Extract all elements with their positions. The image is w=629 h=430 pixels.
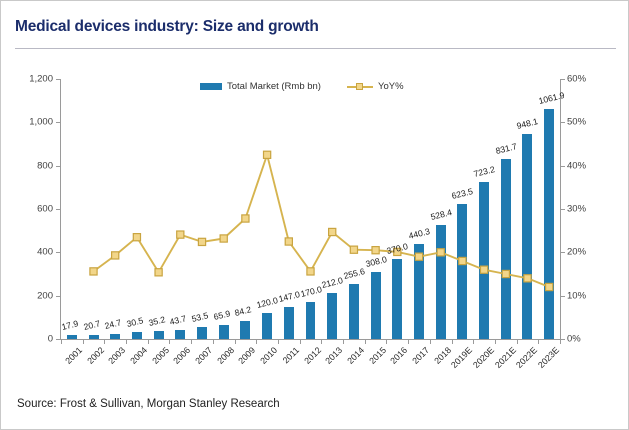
y-tick-mark-right (561, 122, 565, 123)
y-tick-mark-right (561, 296, 565, 297)
x-tick-mark (408, 340, 409, 344)
x-axis-line (60, 339, 561, 340)
x-tick-mark (473, 340, 474, 344)
title-divider (15, 48, 616, 49)
page-title: Medical devices industry: Size and growt… (15, 18, 319, 36)
yoy-marker-2021E[interactable] (502, 270, 509, 277)
x-tick-mark (560, 340, 561, 344)
x-tick-mark (452, 340, 453, 344)
x-tick-mark (191, 340, 192, 344)
yoy-marker-2007[interactable] (198, 238, 205, 245)
y-tick-label-right: 20% (567, 247, 607, 258)
y-tick-label-right: 10% (567, 290, 607, 301)
chart-page: Medical devices industry: Size and growt… (0, 0, 629, 430)
y-tick-label-right: 0% (567, 334, 607, 345)
yoy-marker-2015[interactable] (372, 247, 379, 254)
x-tick-mark (430, 340, 431, 344)
y-tick-label-left: 200 (15, 290, 53, 301)
yoy-marker-2018[interactable] (437, 249, 444, 256)
y-tick-mark-right (561, 79, 565, 80)
y-tick-label-right: 50% (567, 117, 607, 128)
y-tick-mark-left (56, 296, 60, 297)
x-tick-mark (278, 340, 279, 344)
y-tick-label-left: 0 (15, 334, 53, 345)
y-tick-mark-left (56, 252, 60, 253)
x-tick-mark (517, 340, 518, 344)
x-tick-mark (300, 340, 301, 344)
y-tick-mark-left (56, 209, 60, 210)
x-tick-mark (61, 340, 62, 344)
y-tick-label-left: 600 (15, 204, 53, 215)
y-tick-mark-left (56, 79, 60, 80)
y-tick-mark-right (561, 252, 565, 253)
y-tick-label-left: 800 (15, 160, 53, 171)
x-tick-mark (104, 340, 105, 344)
x-tick-mark (148, 340, 149, 344)
yoy-marker-2012[interactable] (307, 268, 314, 275)
yoy-marker-2022E[interactable] (524, 275, 531, 282)
y-tick-label-right: 60% (567, 74, 607, 85)
yoy-marker-2005[interactable] (155, 269, 162, 276)
y-tick-mark-left (56, 339, 60, 340)
y-tick-mark-right (561, 166, 565, 167)
x-tick-mark (256, 340, 257, 344)
y-tick-label-left: 400 (15, 247, 53, 258)
yoy-marker-2013[interactable] (329, 228, 336, 235)
y-tick-mark-right (561, 339, 565, 340)
yoy-marker-2002[interactable] (90, 268, 97, 275)
chart-area: 02004006008001,0001,200 0%10%20%30%40%50… (15, 59, 616, 384)
yoy-marker-2014[interactable] (350, 246, 357, 253)
x-tick-mark (213, 340, 214, 344)
y-tick-mark-left (56, 122, 60, 123)
x-tick-mark (538, 340, 539, 344)
yoy-line-series (61, 79, 560, 339)
y-tick-mark-left (56, 166, 60, 167)
y-tick-label-left: 1,200 (15, 74, 53, 85)
yoy-marker-2011[interactable] (285, 238, 292, 245)
y-tick-label-right: 40% (567, 160, 607, 171)
yoy-marker-2004[interactable] (133, 234, 140, 241)
x-tick-mark (126, 340, 127, 344)
source-note: Source: Frost & Sullivan, Morgan Stanley… (17, 398, 280, 410)
yoy-marker-2010[interactable] (264, 151, 271, 158)
y-tick-label-left: 1,000 (15, 117, 53, 128)
x-tick-mark (235, 340, 236, 344)
yoy-marker-2017[interactable] (415, 253, 422, 260)
x-tick-mark (343, 340, 344, 344)
yoy-marker-2003[interactable] (112, 252, 119, 259)
plot-area: 17.920.724.730.535.243.753.565.984.2120.… (61, 79, 560, 339)
x-tick-mark (83, 340, 84, 344)
x-tick-mark (495, 340, 496, 344)
y-tick-label-right: 30% (567, 204, 607, 215)
yoy-marker-2006[interactable] (177, 231, 184, 238)
x-tick-mark (321, 340, 322, 344)
y-tick-mark-right (561, 209, 565, 210)
yoy-marker-2019E[interactable] (459, 257, 466, 264)
yoy-marker-2008[interactable] (220, 235, 227, 242)
yoy-marker-2009[interactable] (242, 215, 249, 222)
x-tick-mark (386, 340, 387, 344)
yoy-marker-2020E[interactable] (481, 266, 488, 273)
x-tick-mark (365, 340, 366, 344)
x-tick-mark (169, 340, 170, 344)
yoy-marker-2023E[interactable] (546, 283, 553, 290)
